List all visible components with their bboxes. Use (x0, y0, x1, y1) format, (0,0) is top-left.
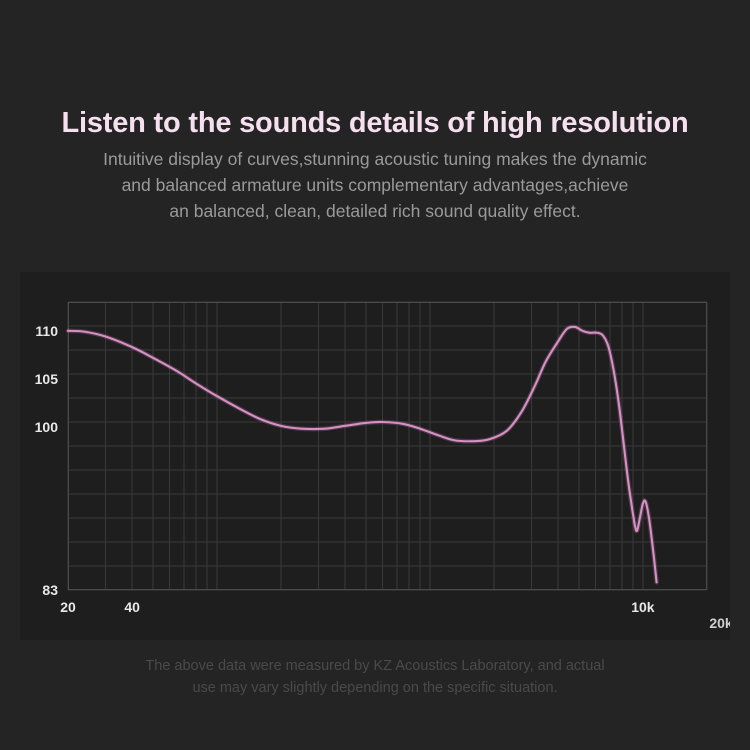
page-title: Listen to the sounds details of high res… (0, 107, 750, 140)
frequency-response-chart: 11010510083 204010k20k (20, 272, 730, 640)
disclaimer-line-1: The above data were measured by KZ Acous… (75, 655, 675, 677)
y-tick-label: 105 (35, 371, 59, 387)
subtitle-line-2: and balanced armature units complementar… (35, 172, 715, 198)
x-tick-label: 20k (709, 615, 730, 631)
chart-curve (68, 327, 657, 583)
x-tick-label: 20 (60, 599, 76, 615)
page-subtitle: Intuitive display of curves,stunning aco… (35, 146, 715, 224)
x-tick-label: 40 (124, 599, 140, 615)
y-tick-label: 110 (35, 323, 58, 339)
frequency-response-chart-panel: 11010510083 204010k20k (20, 272, 730, 640)
subtitle-line-1: Intuitive display of curves,stunning aco… (35, 146, 715, 172)
subtitle-line-3: an balanced, clean, detailed rich sound … (35, 198, 715, 224)
chart-disclaimer: The above data were measured by KZ Acous… (75, 655, 675, 699)
y-tick-label: 83 (42, 582, 58, 598)
page-root: Listen to the sounds details of high res… (0, 0, 750, 750)
x-tick-label: 10k (631, 599, 655, 615)
chart-gridlines (68, 302, 707, 590)
chart-x-axis-labels: 204010k20k (60, 599, 730, 631)
chart-y-axis-labels: 11010510083 (35, 323, 59, 598)
y-tick-label: 100 (35, 419, 59, 435)
disclaimer-line-2: use may vary slightly depending on the s… (75, 677, 675, 699)
